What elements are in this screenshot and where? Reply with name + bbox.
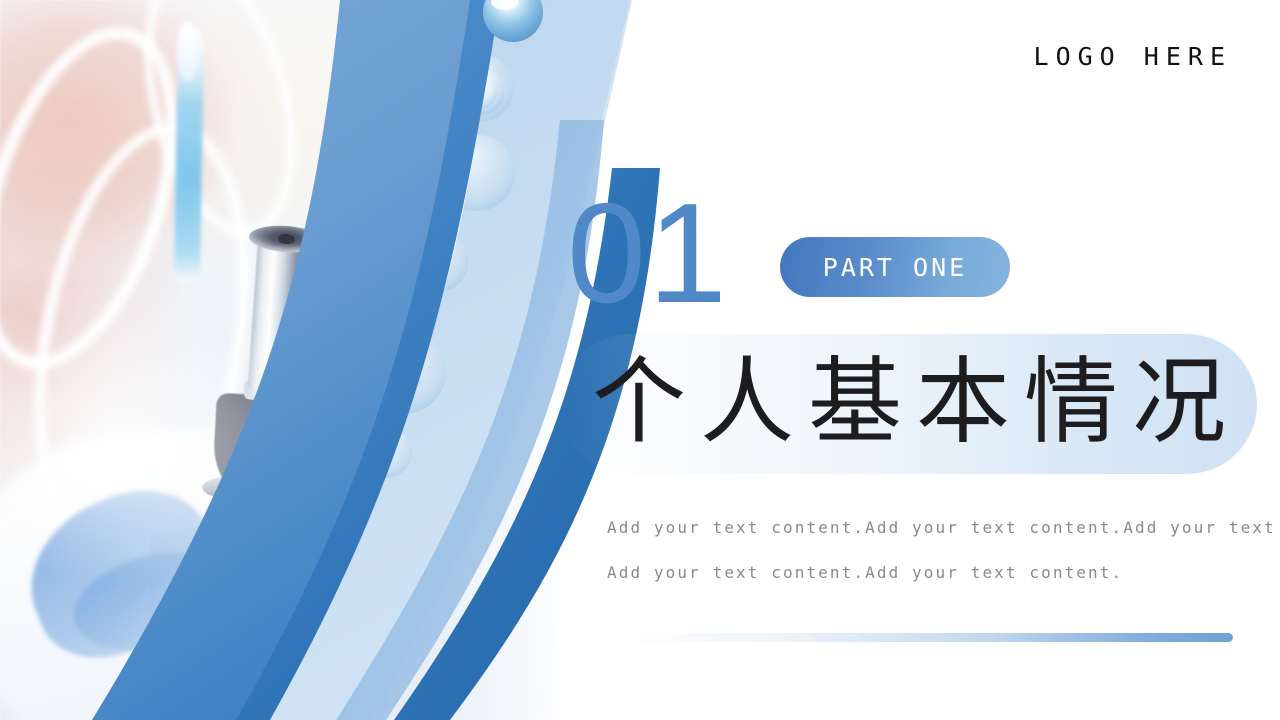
- body-text: Add your text content.Add your text cont…: [607, 505, 1247, 595]
- bottom-accent-bar: [615, 633, 1233, 642]
- body-text-line: Add your text content.Add your text cont…: [607, 550, 1247, 595]
- slide-canvas: LOGO HERE 01 PART ONE 个人基本情况 Add your te…: [0, 0, 1280, 720]
- page-title: 个人基本情况: [592, 347, 1240, 459]
- section-number: 01: [567, 183, 729, 325]
- part-badge-label: PART ONE: [823, 253, 967, 282]
- body-text-line: Add your text content.Add your text cont…: [607, 505, 1247, 550]
- logo-placeholder: LOGO HERE: [1034, 42, 1232, 71]
- part-badge: PART ONE: [780, 237, 1010, 297]
